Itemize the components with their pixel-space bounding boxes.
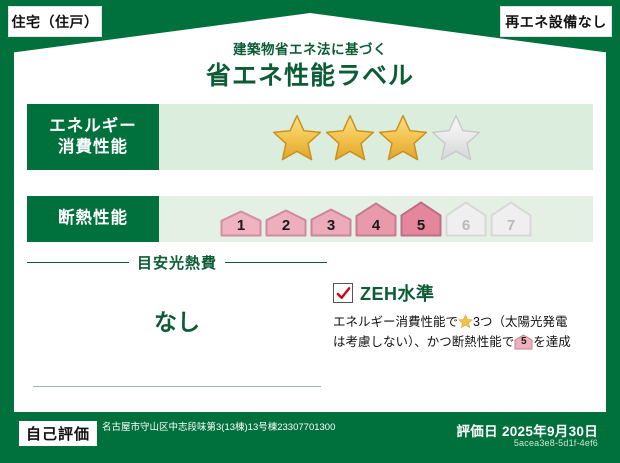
star-filled-icon [272,113,322,161]
energy-label-line2: 消費性能 [58,137,128,158]
star-filled-icon [378,113,428,161]
evaluation-id: 5acea3e8-5d1f-4ef6 [514,438,598,448]
inline-house-number: 5 [514,334,533,350]
house-level-number: 1 [220,217,262,234]
utility-cost-bottom-rule [33,386,321,387]
tag-renewable-energy: 再エネ設備なし [500,6,612,37]
insulation-label: 断熱性能 [58,208,128,229]
house-level-number: 7 [490,217,532,234]
check-icon [336,286,351,301]
insulation-performance-row: 断熱性能 1234567 [27,196,593,242]
evaluation-date: 評価日 2025年9月30日 [456,420,598,440]
property-address: 名古屋市守山区中志段味第3(13棟)13号棟23307701300 [102,422,402,435]
star-empty-icon [431,113,481,161]
house-level-number: 3 [310,217,352,234]
utility-cost-heading-text: 目安光熱費 [137,252,217,273]
insulation-performance-label-box: 断熱性能 [27,196,159,242]
house-level-empty: 6 [445,201,487,237]
label-footer: 自己評価 名古屋市守山区中志段味第3(13棟)13号棟23307701300 評… [14,412,606,463]
energy-performance-row: エネルギー 消費性能 [27,104,593,170]
zeh-title: ZEH水準 [360,280,435,306]
zeh-desc-stars: 3つ（太陽光発電 [473,315,567,329]
evaluation-date-value: 2025年9月30日 [502,424,598,439]
energy-label-line1: エネルギー [49,116,137,137]
zeh-desc-part2: は考慮しない）、かつ断熱性能で [333,335,514,349]
zeh-desc-part3: を達成 [533,335,571,349]
utility-cost-value: なし [27,303,327,337]
zeh-checkbox[interactable] [333,283,353,303]
label-title: 省エネ性能ラベル [0,56,620,92]
heading-rule-right [225,262,327,263]
house-level-filled: 4 [355,202,397,237]
energy-performance-label: 住宅（住戸） 再エネ設備なし 建築物省エネ法に基づく 省エネ性能ラベル エネルギ… [0,0,620,463]
house-level-filled: 3 [310,208,352,237]
zeh-desc-part1: エネルギー消費性能で [333,315,458,329]
label-subtitle: 建築物省エネ法に基づく [0,38,620,58]
zeh-description: エネルギー消費性能で 3つ（太陽光発電 は考慮しない）、かつ断熱性能で 5 を達… [333,312,595,353]
house-level-number: 2 [265,217,307,234]
inline-house-icon: 5 [514,334,533,350]
zeh-heading: ZEH水準 [333,280,595,306]
house-level-filled: 5 [400,201,442,237]
star-rating [272,113,481,161]
house-level-empty: 7 [490,201,532,237]
star-filled-icon [325,113,375,161]
heading-rule-left [27,262,129,263]
tag-building-type: 住宅（住戸） [8,6,102,37]
self-evaluation-badge: 自己評価 [19,421,97,446]
house-level-filled: 2 [265,209,307,237]
house-level-number: 6 [445,217,487,234]
zeh-section: ZEH水準 エネルギー消費性能で 3つ（太陽光発電 は考慮しない）、かつ断熱性能… [333,280,595,353]
house-level-scale: 1234567 [220,201,532,237]
insulation-levels-area: 1234567 [159,196,593,242]
evaluation-date-label: 評価日 [456,424,497,439]
house-level-number: 4 [355,217,397,234]
utility-cost-heading: 目安光熱費 [27,252,327,273]
inline-star-icon [458,314,473,329]
utility-cost-section: 目安光熱費 なし [27,252,327,387]
house-level-filled: 1 [220,210,262,237]
energy-stars-area [159,104,593,170]
house-level-number: 5 [400,217,442,234]
energy-performance-label-box: エネルギー 消費性能 [27,104,159,170]
